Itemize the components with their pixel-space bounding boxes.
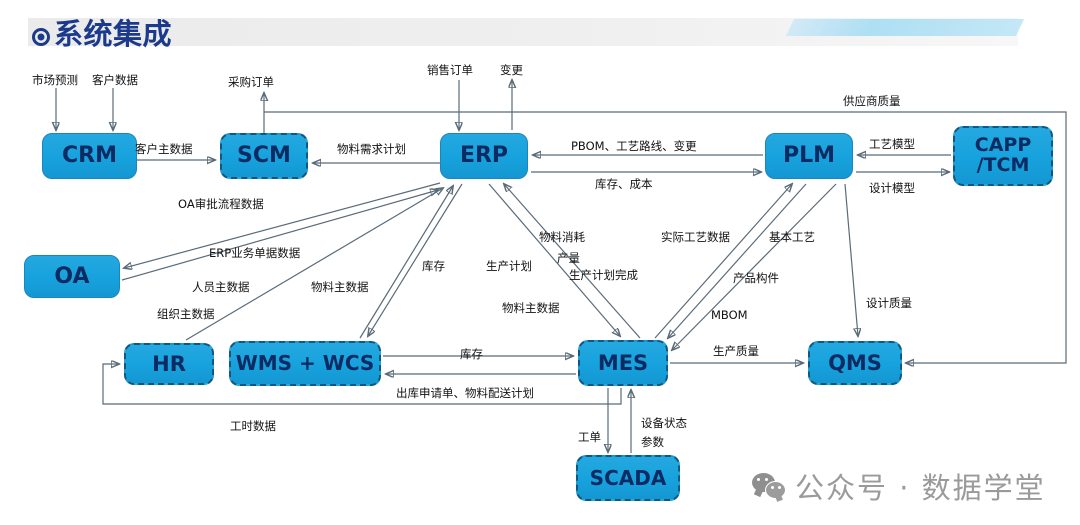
edge-label-pbom-route-change: PBOM、工艺路线、变更 [571, 138, 697, 154]
node-label-scm: SCM [237, 144, 291, 167]
edge-label-prod-plan: 生产计划 [486, 258, 532, 274]
edge-label-outbound-delivery: 出库申请单、物料配送计划 [396, 385, 534, 401]
edge-label-sales-order: 销售订单 [427, 62, 473, 78]
edge-label-design-quality: 设计质量 [866, 295, 912, 311]
node-label-hr: HR [152, 353, 186, 375]
node-label-wms: WMS + WCS [236, 353, 375, 374]
node-scada[interactable]: SCADA [576, 455, 680, 501]
edge-label-purchase-order: 采购订单 [228, 74, 274, 90]
edge-label-prod-quality: 生产质量 [713, 343, 759, 359]
node-wms[interactable]: WMS + WCS [229, 341, 381, 386]
node-label-mes: MES [598, 352, 648, 374]
edge-label-org-master: 组织主数据 [157, 306, 215, 322]
node-plm[interactable]: PLM [765, 133, 853, 179]
connector-layer [0, 0, 1080, 525]
node-label-oa: OA [54, 265, 89, 288]
edge-label-oa-approval-flow: OA审批流程数据 [178, 196, 264, 212]
edge-label-inventory-1: 库存 [422, 258, 445, 274]
edge-label-process-model: 工艺模型 [869, 136, 915, 152]
edge-label-output: 产量 [557, 250, 580, 266]
edge-label-inventory-cost: 库存、成本 [595, 176, 653, 192]
edge-label-labor-hours: 工时数据 [230, 418, 276, 434]
edge-label-customer-master: 客户主数据 [135, 141, 193, 157]
edge-label-product-part: 产品构件 [733, 270, 779, 286]
edge-label-staff-master: 人员主数据 [192, 279, 250, 295]
node-label-capp: CAPP/TCM [975, 136, 1032, 176]
node-label-crm: CRM [62, 144, 117, 167]
node-label-scada: SCADA [590, 468, 667, 489]
edge-label-material-master-2: 物料主数据 [502, 300, 560, 316]
edge-label-material-master-1: 物料主数据 [311, 279, 369, 295]
edge-label-supplier-quality: 供应商质量 [843, 93, 901, 109]
node-crm[interactable]: CRM [42, 133, 137, 179]
wechat-watermark: 公众号 · 数据学堂 [752, 465, 1046, 507]
edge-label-actual-process-data: 实际工艺数据 [661, 229, 730, 245]
edge-label-prod-plan-done: 生产计划完成 [569, 267, 638, 283]
node-oa[interactable]: OA [24, 255, 120, 298]
edge-label-mrp: 物料需求计划 [337, 141, 406, 157]
node-label-erp: ERP [460, 144, 508, 167]
node-scm[interactable]: SCM [220, 133, 308, 179]
wechat-icon [752, 473, 786, 499]
node-mes[interactable]: MES [578, 340, 668, 386]
node-label-qms: QMS [828, 352, 882, 374]
node-capp[interactable]: CAPP/TCM [953, 126, 1053, 186]
node-erp[interactable]: ERP [440, 133, 528, 179]
edge-label-basic-process: 基本工艺 [769, 229, 815, 245]
edge-label-change: 变更 [500, 62, 523, 78]
edge-label-inventory-2: 库存 [460, 346, 483, 362]
edge-label-customer-data: 客户数据 [92, 72, 138, 88]
node-hr[interactable]: HR [124, 343, 214, 385]
edge-label-market-forecast: 市场预测 [32, 72, 78, 88]
edge-label-params: 参数 [641, 434, 664, 450]
node-qms[interactable]: QMS [808, 341, 902, 385]
edge-label-mbom: MBOM [711, 308, 748, 322]
watermark-text: 公众号 · 数据学堂 [795, 465, 1046, 507]
node-label-plm: PLM [783, 144, 835, 167]
edge-label-equip-status: 设备状态 [641, 415, 687, 431]
edge-label-material-consume: 物料消耗 [539, 229, 585, 245]
diagram-canvas: 系统集成 [0, 0, 1080, 525]
edge-label-design-model: 设计模型 [869, 180, 915, 196]
edge-label-erp-business-doc: ERP业务单据数据 [209, 245, 300, 261]
edge-label-work-order: 工单 [578, 429, 601, 445]
